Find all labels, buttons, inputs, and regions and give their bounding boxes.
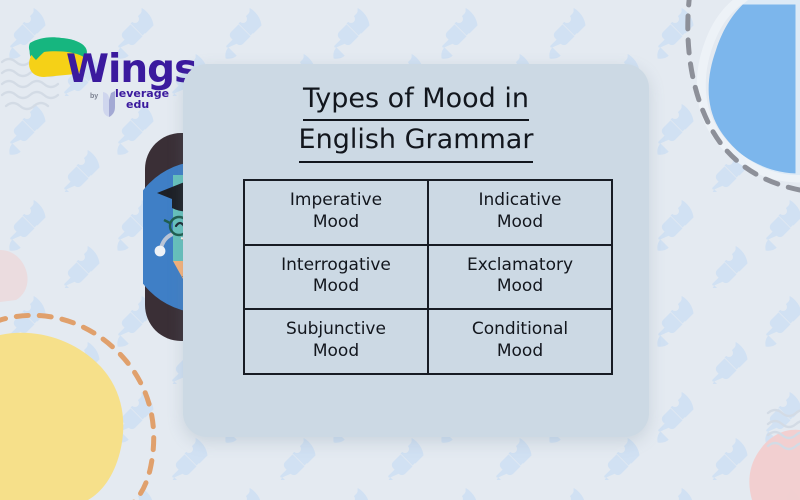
page-title-line2: English Grammar	[299, 121, 534, 162]
cell-text-line2: Mood	[313, 212, 359, 232]
cell-text-line1: Indicative	[479, 190, 562, 210]
cell-text-line2: Mood	[497, 212, 543, 232]
cell-text-line2: Mood	[497, 341, 543, 361]
page-title: Types of Mood in English Grammar	[183, 80, 649, 163]
table-cell-imperative-mood: Imperative Mood	[244, 180, 428, 245]
table-row: Subjunctive Mood Conditional Mood	[244, 309, 612, 374]
cell-text-line2: Mood	[313, 276, 359, 296]
table-cell-subjunctive-mood: Subjunctive Mood	[244, 309, 428, 374]
page-title-line1: Types of Mood in	[303, 80, 529, 121]
table-cell-conditional-mood: Conditional Mood	[428, 309, 612, 374]
cell-text-line1: Subjunctive	[286, 319, 386, 339]
cell-text-line1: Imperative	[290, 190, 382, 210]
wings-wordmark: Wings	[66, 50, 196, 89]
table-cell-interrogative-mood: Interrogative Mood	[244, 245, 428, 310]
leverage-edu-wordmark: leverage edu	[115, 88, 169, 110]
edu-word: edu	[115, 99, 169, 110]
wings-logo[interactable]: Wings by leverage edu	[14, 30, 174, 122]
slide-canvas: Wings by leverage edu	[0, 0, 800, 500]
logo-by-label: by	[90, 93, 98, 100]
cell-text-line1: Conditional	[472, 319, 568, 339]
cell-text-line2: Mood	[497, 276, 543, 296]
cell-text-line2: Mood	[313, 341, 359, 361]
mood-types-table: Imperative Mood Indicative Mood Interrog…	[243, 179, 613, 375]
cell-text-line1: Exclamatory	[467, 255, 573, 275]
table-cell-exclamatory-mood: Exclamatory Mood	[428, 245, 612, 310]
table-cell-indicative-mood: Indicative Mood	[428, 180, 612, 245]
content-card: Types of Mood in English Grammar Imperat…	[183, 64, 649, 437]
table-row: Imperative Mood Indicative Mood	[244, 180, 612, 245]
cell-text-line1: Interrogative	[281, 255, 391, 275]
table-row: Interrogative Mood Exclamatory Mood	[244, 245, 612, 310]
